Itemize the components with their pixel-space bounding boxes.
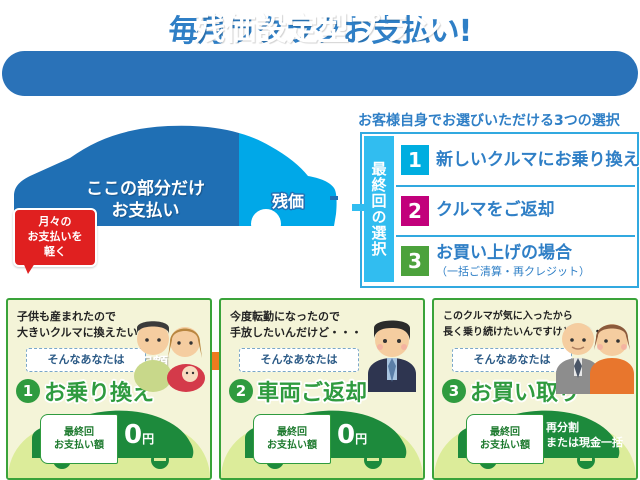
mini-car-panel-3: 最終回 お支払い額 — [466, 414, 544, 464]
panel-line2-2: お支払い額 — [267, 439, 317, 452]
businessman-illustration-icon — [363, 316, 421, 392]
price-value-1: 0 — [124, 420, 142, 450]
mini-car-1: 最終回 お支払い額 0円 — [20, 408, 202, 470]
card-number-2: 2 — [229, 379, 253, 403]
callout-bubble: 月々の お支払いを 軽く — [13, 208, 97, 267]
option-label-3: お買い上げの場合 — [436, 244, 590, 263]
callout-text: 月々の お支払いを 軽く — [15, 214, 95, 259]
car-diagram: ここの部分だけ お支払い 残価 月々の お支払いを 軽く ご負担額 — [0, 100, 356, 290]
option-card-1[interactable]: 子供も産まれたので 大きいクルマに換えたい！ そんなあなたは 1 お乗り換え — [6, 298, 212, 480]
price-unit-1: 円 — [142, 432, 154, 446]
option-cards: 子供も産まれたので 大きいクルマに換えたい！ そんなあなたは 1 お乗り換え — [0, 296, 640, 480]
card-bubble-2: そんなあなたは — [239, 348, 359, 372]
card-quote-2-line2: 手放したいんだけど・・・ — [230, 326, 362, 339]
banner-title: 残価設定型プラン — [0, 4, 636, 49]
mini-car-price-1: 0円 — [124, 420, 154, 450]
options-list: 1 新しいクルマにお乗り換え 2 クルマをご返却 3 お買い上げの場合 （一括ご… — [396, 136, 635, 282]
callout-tail — [22, 260, 37, 274]
family-illustration-icon — [126, 314, 208, 392]
car-residual-label: 残価 — [253, 188, 323, 212]
option-card-3[interactable]: このクルマが気に入ったから 長く乗り続けたいんですけど・・・ そんなあなたは 3… — [432, 298, 638, 480]
card-heading-text-2: 車両ご返却 — [257, 375, 367, 407]
panel-line1-2: 最終回 — [277, 426, 307, 439]
car-payment-line2: お支払い — [112, 201, 180, 221]
header: 毎月ラクラクお支払い! 残価設定型プラン — [0, 0, 640, 100]
options-box: 最終回の選択 1 新しいクルマにお乗り換え 2 クルマをご返却 3 お買い上げの… — [360, 132, 639, 288]
callout-line3: 軽く — [44, 245, 66, 258]
card-quote-1-line1: 子供も産まれたので — [17, 310, 116, 323]
mini-car-2: 最終回 お支払い額 0円 — [233, 408, 415, 470]
card-heading-2: 2 車両ご返却 — [229, 376, 367, 406]
mini-car-panel-1: 最終回 お支払い額 — [40, 414, 118, 464]
price-value-2: 0 — [337, 420, 355, 450]
infographic-page: 毎月ラクラクお支払い! 残価設定型プラン — [0, 0, 640, 480]
panel-line1-1: 最終回 — [64, 426, 94, 439]
option-sublabel-3: （一括ご清算・再クレジット） — [436, 263, 590, 279]
option-number-1: 1 — [401, 145, 429, 175]
note-line1-3: 再分割 — [546, 421, 579, 434]
card-quote-2-line1: 今度転勤になったので — [230, 310, 340, 323]
callout-line1: 月々の — [39, 215, 72, 228]
option-card-2[interactable]: 今度転勤になったので 手放したいんだけど・・・ そんなあなたは 2 車両ご返却 — [219, 298, 425, 480]
option-label-2: クルマをご返却 — [436, 201, 555, 220]
option-number-2: 2 — [401, 196, 429, 226]
title-banner — [2, 51, 638, 96]
price-unit-2: 円 — [355, 432, 367, 446]
note-line2-3: または現金一括 — [546, 436, 623, 449]
option-row-2[interactable]: 2 クルマをご返却 — [396, 187, 635, 238]
mini-car-price-2: 0円 — [337, 420, 367, 450]
callout-line2: お支払いを — [28, 230, 83, 243]
options-vertical-label: 最終回の選択 — [364, 136, 394, 282]
options-connector — [352, 204, 364, 211]
mini-car-3: 最終回 お支払い額 再分割 または現金一括 — [446, 408, 628, 470]
panel-line2-3: お支払い額 — [480, 439, 530, 452]
option-label-1: 新しいクルマにお乗り換え — [436, 151, 640, 170]
panel-line1-3: 最終回 — [490, 426, 520, 439]
option-number-3: 3 — [401, 246, 429, 276]
card-number-1: 1 — [16, 379, 40, 403]
option-row-1[interactable]: 1 新しいクルマにお乗り換え — [396, 136, 635, 187]
car-payment-line1: ここの部分だけ — [86, 179, 205, 199]
senior-couple-illustration-icon — [552, 314, 636, 394]
option-row-3[interactable]: 3 お買い上げの場合 （一括ご清算・再クレジット） — [396, 237, 635, 286]
mini-car-note-3: 再分割 または現金一括 — [546, 420, 623, 450]
card-bubble-text-2: そんなあなたは — [240, 349, 358, 370]
panel-line2-1: お支払い額 — [54, 439, 104, 452]
options-panel: お客様自身でお選びいただける3つの選択 最終回の選択 1 新しいクルマにお乗り換… — [358, 110, 638, 288]
mini-car-panel-2: 最終回 お支払い額 — [253, 414, 331, 464]
card-number-3: 3 — [442, 379, 466, 403]
card-quote-2: 今度転勤になったので 手放したいんだけど・・・ — [230, 309, 362, 341]
options-heading: お客様自身でお選びいただける3つの選択 — [358, 110, 638, 130]
